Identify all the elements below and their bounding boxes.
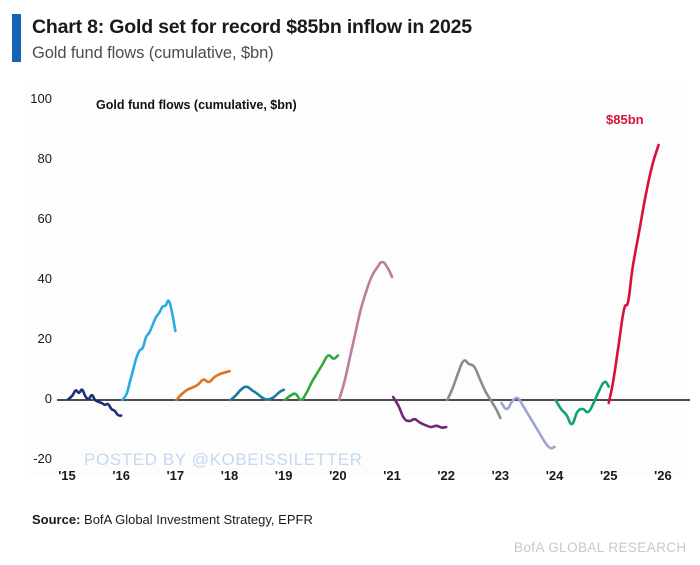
series-line-2021 <box>393 397 446 428</box>
x-tick-label: '19 <box>261 468 307 483</box>
brand-footer: BofA GLOBAL RESEARCH <box>514 540 687 555</box>
series-line-2018 <box>231 387 284 400</box>
x-tick-label: '16 <box>98 468 144 483</box>
series-line-2019 <box>285 355 338 400</box>
x-tick-label: '26 <box>640 468 686 483</box>
series-layer <box>68 145 659 448</box>
source-text: BofA Global Investment Strategy, EPFR <box>80 512 312 527</box>
y-tick-label: -20 <box>8 451 52 466</box>
accent-bar <box>12 14 21 62</box>
series-line-2022 <box>447 360 500 418</box>
y-tick-label: 60 <box>8 211 52 226</box>
series-line-2015 <box>68 390 121 416</box>
x-tick-label: '24 <box>532 468 578 483</box>
x-tick-label: '23 <box>477 468 523 483</box>
y-tick-label: 100 <box>8 91 52 106</box>
source-line: Source: BofA Global Investment Strategy,… <box>32 512 313 527</box>
y-tick-label: 20 <box>8 331 52 346</box>
y-tick-label: 40 <box>8 271 52 286</box>
page-subtitle: Gold fund flows (cumulative, $bn) <box>32 44 274 63</box>
y-tick-label: 80 <box>8 151 52 166</box>
x-tick-label: '18 <box>207 468 253 483</box>
series-line-2016 <box>122 301 175 400</box>
series-line-2023 <box>501 398 554 448</box>
x-tick-label: '25 <box>586 468 632 483</box>
chart-header: Chart 8: Gold set for record $85bn inflo… <box>0 0 700 78</box>
series-line-2020 <box>339 262 392 400</box>
series-line-2025 <box>609 145 659 403</box>
series-line-2017 <box>176 371 229 400</box>
series-line-2024 <box>556 382 609 424</box>
x-tick-label: '17 <box>152 468 198 483</box>
source-label: Source: <box>32 512 80 527</box>
y-tick-label: 0 <box>8 391 52 406</box>
page-title: Chart 8: Gold set for record $85bn inflo… <box>32 16 472 39</box>
plot-area: Gold fund flows (cumulative, $bn) $85bn … <box>0 82 700 494</box>
x-tick-label: '15 <box>44 468 90 483</box>
x-tick-label: '20 <box>315 468 361 483</box>
chart-canvas <box>0 82 700 494</box>
x-tick-label: '22 <box>423 468 469 483</box>
chart-page: Chart 8: Gold set for record $85bn inflo… <box>0 0 700 565</box>
x-tick-label: '21 <box>369 468 415 483</box>
